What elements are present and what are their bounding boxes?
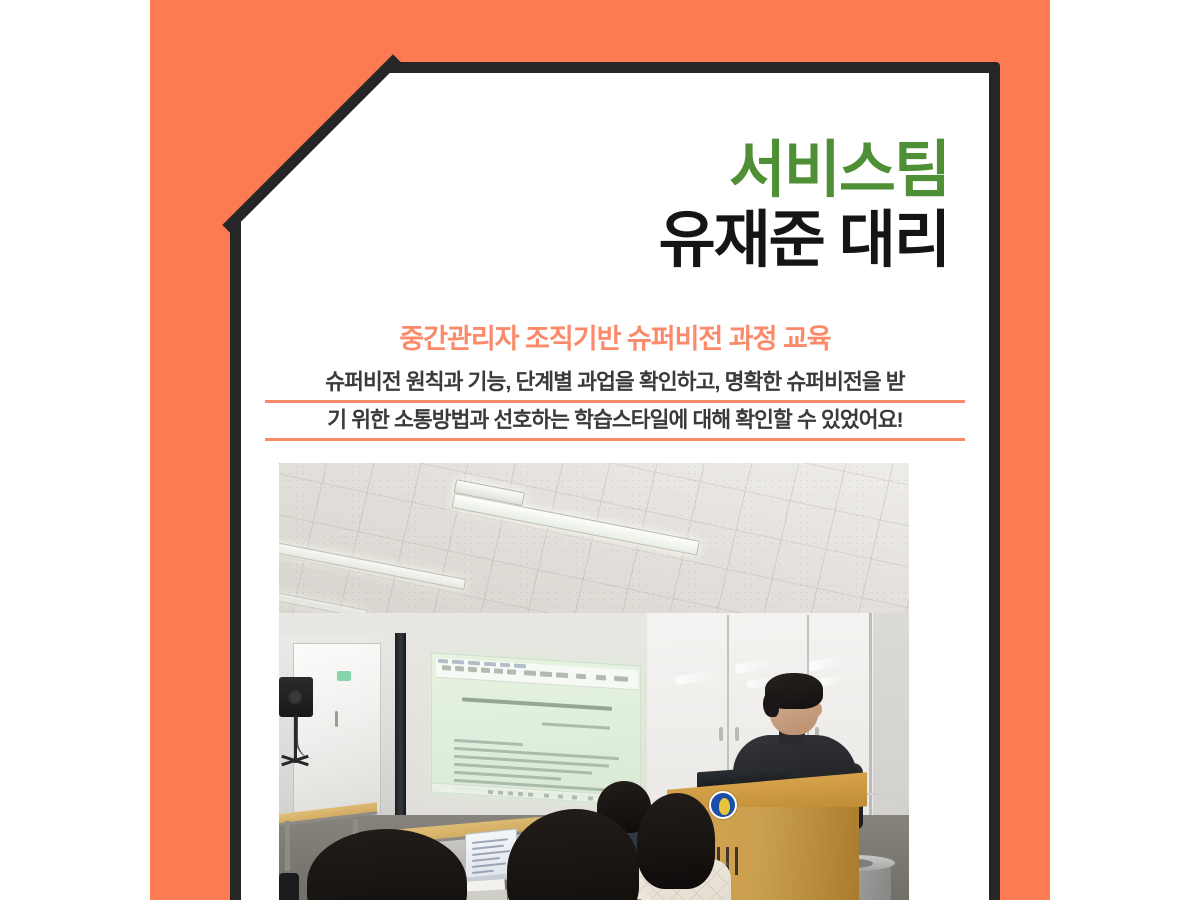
door-frame-dark bbox=[395, 633, 406, 825]
speaker-cone bbox=[287, 689, 303, 705]
slide-document-title bbox=[462, 697, 612, 710]
subtitle-line-1: 슈퍼비전 원칙과 기능, 단계별 과업을 확인하고, 명확한 슈퍼비전을 받 bbox=[265, 365, 965, 400]
title-block: 서비스팀 유재준 대리 bbox=[241, 139, 949, 273]
presenter-hair-side bbox=[763, 691, 779, 717]
title-line-team: 서비스팀 bbox=[241, 139, 949, 202]
projection-screen bbox=[431, 652, 641, 805]
title-line-name: 유재준 대리 bbox=[241, 208, 949, 273]
ceiling-texture bbox=[279, 463, 909, 638]
cabinet-handle-1 bbox=[719, 727, 723, 741]
subtitle-block: 슈퍼비전 원칙과 기능, 단계별 과업을 확인하고, 명확한 슈퍼비전을 받 기… bbox=[265, 365, 965, 441]
door-handle bbox=[335, 711, 338, 727]
cabinet-handle-2 bbox=[735, 727, 739, 741]
poster-background: 서비스팀 유재준 대리 중간관리자 조직기반 슈퍼비전 과정 교육 슈퍼비전 원… bbox=[150, 0, 1050, 900]
subtitle-line-2-rules: 기 위한 소통방법과 선호하는 학습스타일에 대해 확인할 수 있었어요! bbox=[265, 400, 965, 441]
attendee-3-hair bbox=[637, 793, 715, 889]
subtitle-line-2: 기 위한 소통방법과 선호하는 학습스타일에 대해 확인할 수 있었어요! bbox=[265, 403, 965, 438]
content-card: 서비스팀 유재준 대리 중간관리자 조직기반 슈퍼비전 과정 교육 슈퍼비전 원… bbox=[230, 62, 1000, 900]
desk-left-leg-1 bbox=[285, 821, 290, 871]
course-heading: 중간관리자 조직기반 슈퍼비전 과정 교육 bbox=[241, 317, 989, 356]
poster-stage: 서비스팀 유재준 대리 중간관리자 조직기반 슈퍼비전 과정 교육 슈퍼비전 원… bbox=[0, 0, 1200, 900]
exit-sign-icon bbox=[337, 671, 351, 681]
chair-left bbox=[279, 873, 299, 900]
training-photo bbox=[279, 463, 909, 900]
podium-organization-logo bbox=[709, 791, 737, 819]
slide-author-line bbox=[542, 722, 610, 729]
